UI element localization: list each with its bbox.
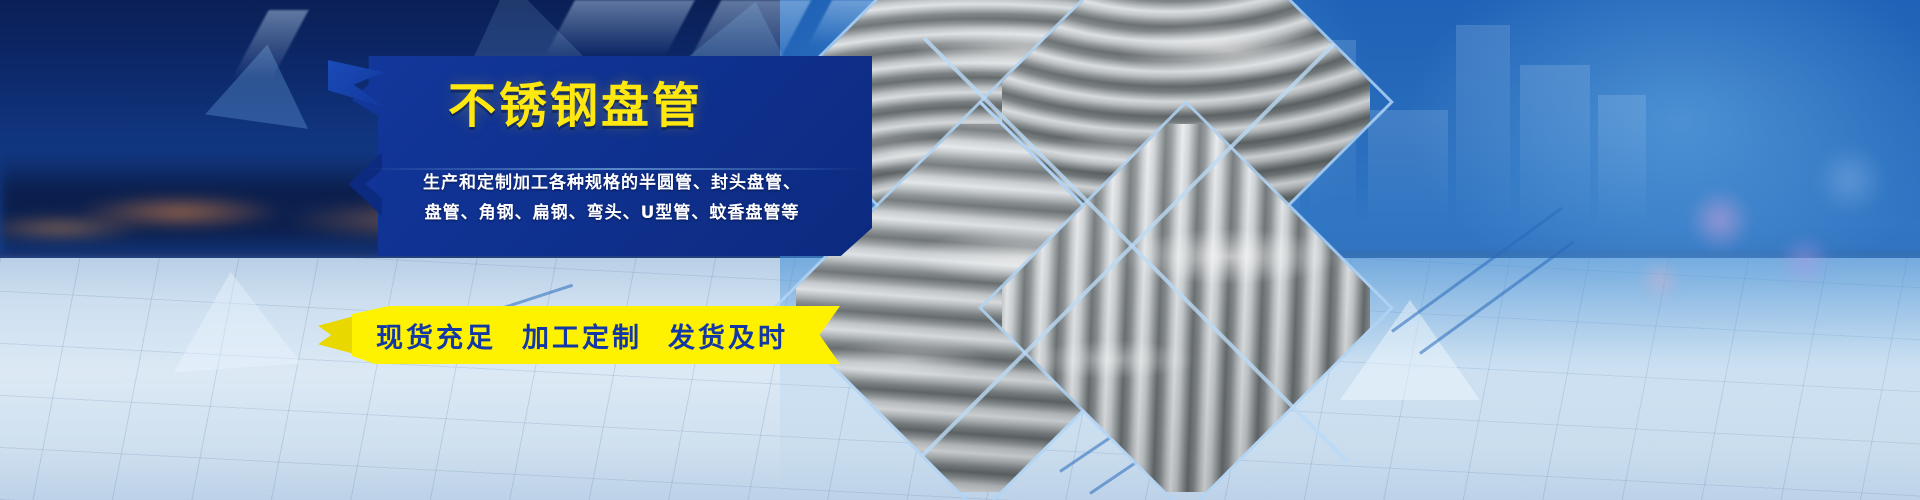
banner-subtitle-line-1: 生产和定制加工各种规格的半圆管、封头盘管、 <box>352 168 872 193</box>
ribbon-item-0: 现货充足 <box>376 316 496 355</box>
promo-banner: 不锈钢盘管 生产和定制加工各种规格的半圆管、封头盘管、 盘管、角钢、扁钢、弯头、… <box>0 0 1920 500</box>
decor-triangle-4 <box>167 268 301 373</box>
features-ribbon: 现货充足 加工定制 发货及时 <box>352 306 812 364</box>
headline-panel: 不锈钢盘管 生产和定制加工各种规格的半圆管、封头盘管、 盘管、角钢、扁钢、弯头、… <box>352 56 872 256</box>
ribbon-item-1: 加工定制 <box>522 316 642 355</box>
ribbon-item-2: 发货及时 <box>668 316 788 355</box>
background-bokeh-lights <box>1600 140 1920 370</box>
ribbon-text-group: 现货充足 加工定制 发货及时 <box>352 306 812 364</box>
banner-subtitle-line-2: 盘管、角钢、扁钢、弯头、U型管、蚊香盘管等 <box>352 198 872 223</box>
banner-title: 不锈钢盘管 <box>448 82 848 130</box>
product-photo-collage <box>836 0 1436 500</box>
